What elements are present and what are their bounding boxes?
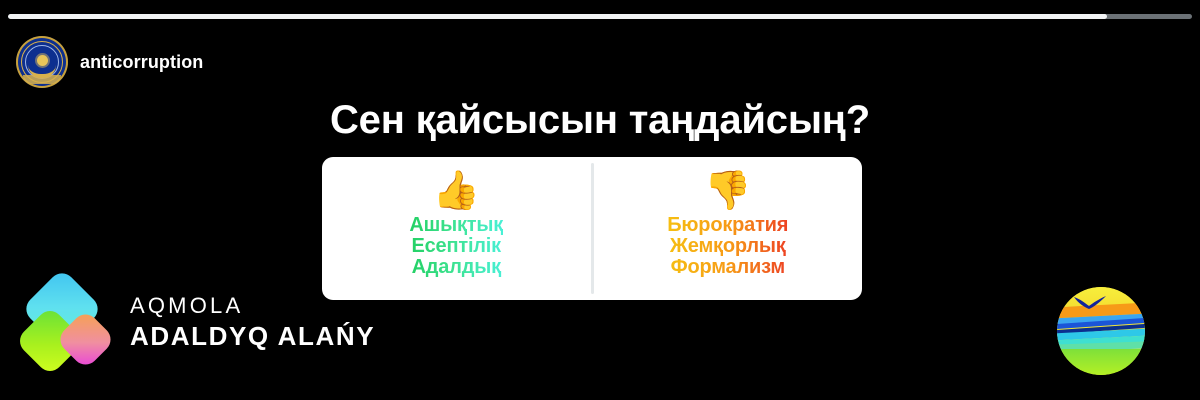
emblem-band-green: [1057, 349, 1145, 375]
avatar-base-shape: [23, 75, 61, 84]
aqmola-diamonds-logo: [22, 278, 114, 370]
brand-line-adaldyq-alany: ADALDYQ ALAŃY: [130, 323, 375, 349]
thumbs-down-icon: 👎: [704, 169, 751, 213]
good-value-3: Адалдық: [409, 257, 503, 278]
bad-value-3: Формализм: [667, 257, 788, 278]
eagle-icon: [1073, 294, 1107, 310]
avatar[interactable]: [16, 36, 68, 88]
bad-value-1: Бюрократия: [667, 215, 788, 236]
story-progress-bar[interactable]: [8, 14, 1192, 19]
card-half-bad[interactable]: 👎 Бюрократия Жемқорлық Формализм: [594, 157, 863, 300]
story-canvas: anticorruption Сен қайсысын таңдайсың? 👍…: [0, 0, 1200, 400]
brand-line-aqmola: AQMOLA: [130, 295, 375, 317]
story-progress-fill: [8, 14, 1107, 19]
akmola-region-emblem: [1057, 287, 1145, 375]
good-value-2: Есептілік: [409, 236, 503, 257]
page-title: Сен қайсысын таңдайсың?: [0, 98, 1200, 143]
account-header[interactable]: anticorruption: [16, 36, 203, 88]
comparison-card: 👍 Ашықтық Есептілік Адалдық 👎 Бюрократия…: [322, 157, 862, 300]
bad-values-list: Бюрократия Жемқорлық Формализм: [667, 215, 788, 278]
aqmola-brand-lockup: AQMOLA ADALDYQ ALAŃY: [22, 278, 375, 370]
good-value-1: Ашықтық: [409, 215, 503, 236]
account-name: anticorruption: [80, 52, 203, 73]
brand-text: AQMOLA ADALDYQ ALAŃY: [130, 295, 375, 353]
thumbs-up-icon: 👍: [433, 169, 480, 213]
good-values-list: Ашықтық Есептілік Адалдық: [409, 215, 503, 278]
bad-value-2: Жемқорлық: [667, 236, 788, 257]
